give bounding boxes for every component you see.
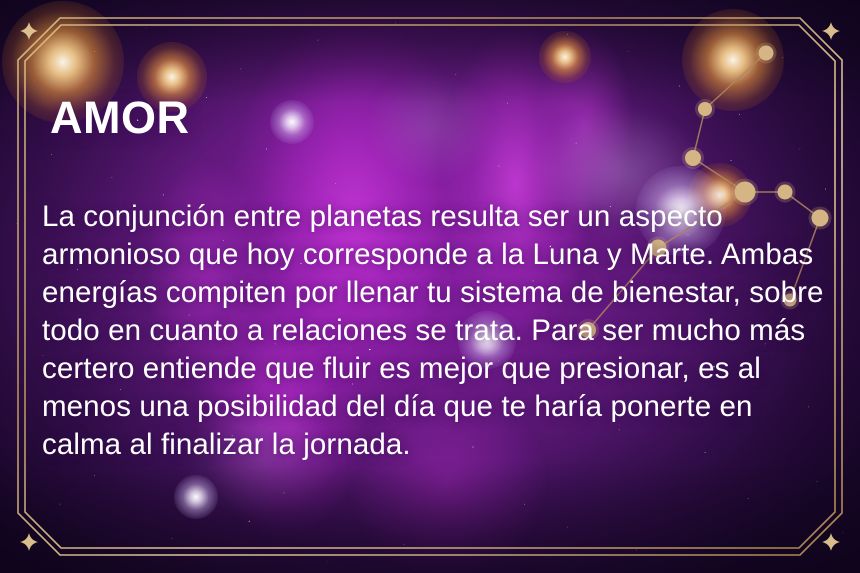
horoscope-body-line: todo en cuanto a relaciones se trata. Pa… bbox=[42, 312, 836, 350]
horoscope-body-line: calma al finalizar la jornada. bbox=[42, 426, 836, 464]
horoscope-card: AMOR La conjunción entre planetas result… bbox=[0, 0, 860, 573]
horoscope-body-line: energías compiten por llenar tu sistema … bbox=[42, 274, 836, 312]
horoscope-body-line: La conjunción entre planetas resulta ser… bbox=[42, 198, 836, 236]
page-title: AMOR bbox=[50, 95, 189, 140]
horoscope-body-text: La conjunción entre planetas resulta ser… bbox=[42, 198, 836, 464]
horoscope-body-line: certero entiende que fluir es mejor que … bbox=[42, 350, 836, 388]
horoscope-body-line: armonioso que hoy corresponde a la Luna … bbox=[42, 236, 836, 274]
card-content: AMOR La conjunción entre planetas result… bbox=[0, 0, 860, 573]
horoscope-body-line: menos una posibilidad del día que te har… bbox=[42, 388, 836, 426]
